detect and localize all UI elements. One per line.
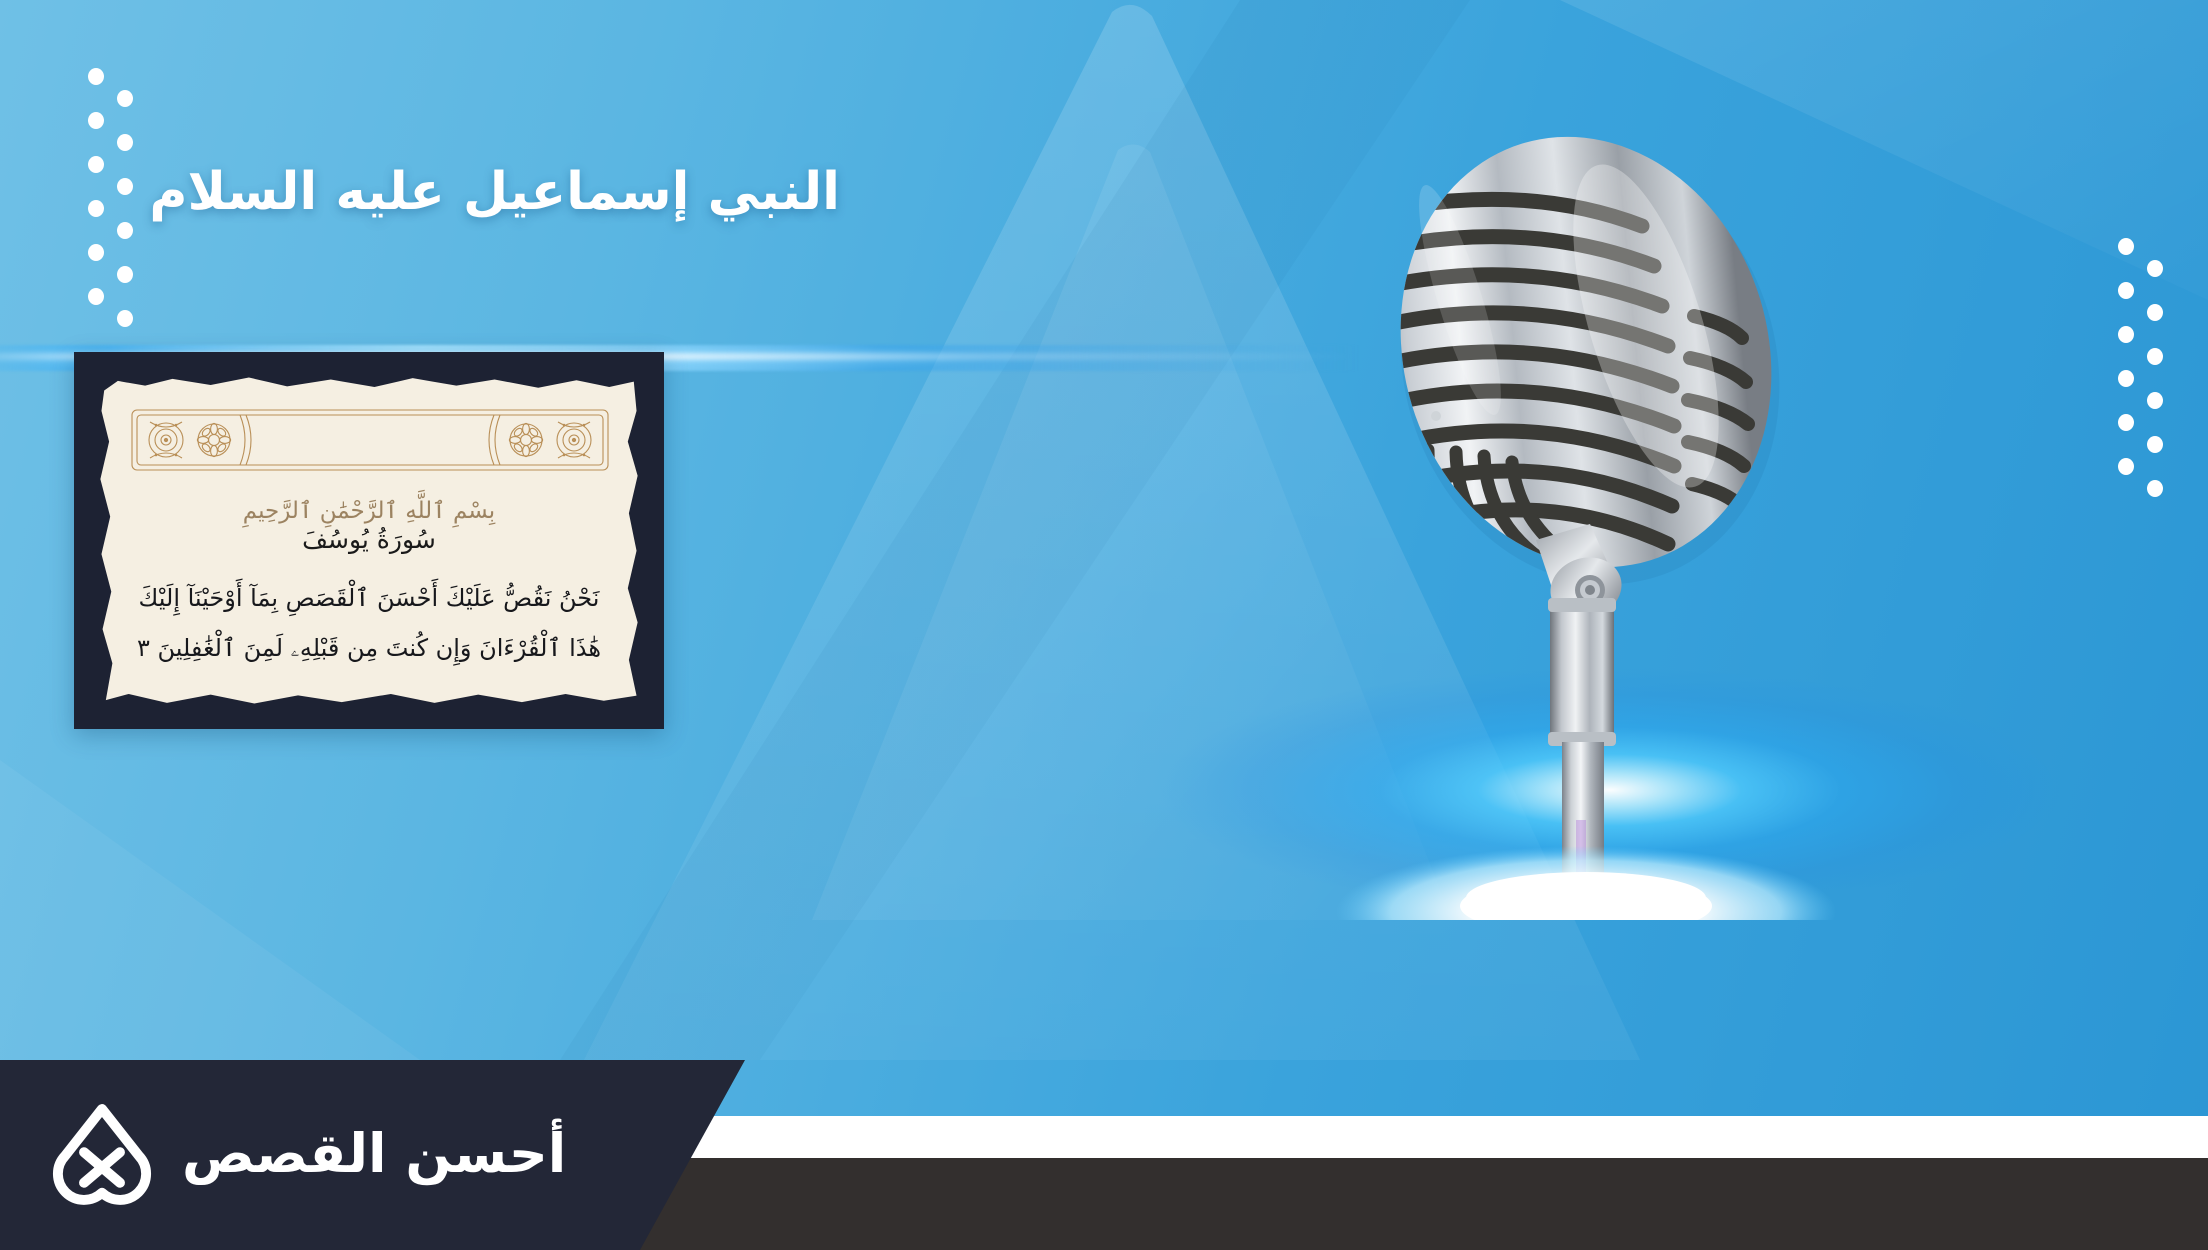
right-dot-grid (2118, 238, 2178, 500)
dot-grid-icon (2147, 304, 2163, 321)
brand-lockup[interactable]: أحسن القصص (48, 1100, 566, 1208)
dot-grid-icon (2118, 326, 2134, 343)
dot-grid-icon (2118, 238, 2134, 255)
left-dot-grid (88, 68, 148, 330)
dot-grid-icon (117, 134, 133, 151)
dot-grid-icon (2118, 458, 2134, 475)
surah-name: سُورَةُ يُوسُفَ (74, 352, 664, 729)
quran-verse-card: سُورَةُ يُوسُفَ بِسْمِ ٱللَّهِ ٱلرَّحْمَ… (74, 352, 664, 729)
dot-grid-icon (117, 90, 133, 107)
dot-grid-icon (2147, 480, 2163, 497)
dot-grid-icon (2147, 392, 2163, 409)
dot-grid-icon (88, 200, 104, 217)
footer-bar: أحسن القصص (0, 1060, 2208, 1250)
dot-grid-icon (2147, 260, 2163, 277)
dot-grid-icon (88, 156, 104, 173)
teardrop-knot-logo-icon (48, 1100, 156, 1208)
dot-grid-icon (2118, 282, 2134, 299)
dot-grid-icon (117, 266, 133, 283)
thumbnail-canvas: النبي إسماعيل عليه السلام (0, 0, 2208, 1250)
page-title: النبي إسماعيل عليه السلام (170, 160, 840, 225)
dot-grid-icon (88, 68, 104, 85)
dot-grid-icon (88, 244, 104, 261)
dot-grid-icon (88, 112, 104, 129)
dot-grid-icon (88, 288, 104, 305)
dot-grid-icon (2118, 414, 2134, 431)
vintage-microphone-icon (1290, 120, 1930, 920)
dot-grid-icon (2118, 370, 2134, 387)
dot-grid-icon (117, 310, 133, 327)
dot-grid-icon (117, 222, 133, 239)
dot-grid-icon (2147, 436, 2163, 453)
dot-grid-icon (2147, 348, 2163, 365)
microphone-illustration (1290, 120, 1930, 920)
dot-grid-icon (117, 178, 133, 195)
brand-name: أحسن القصص (182, 1127, 566, 1181)
